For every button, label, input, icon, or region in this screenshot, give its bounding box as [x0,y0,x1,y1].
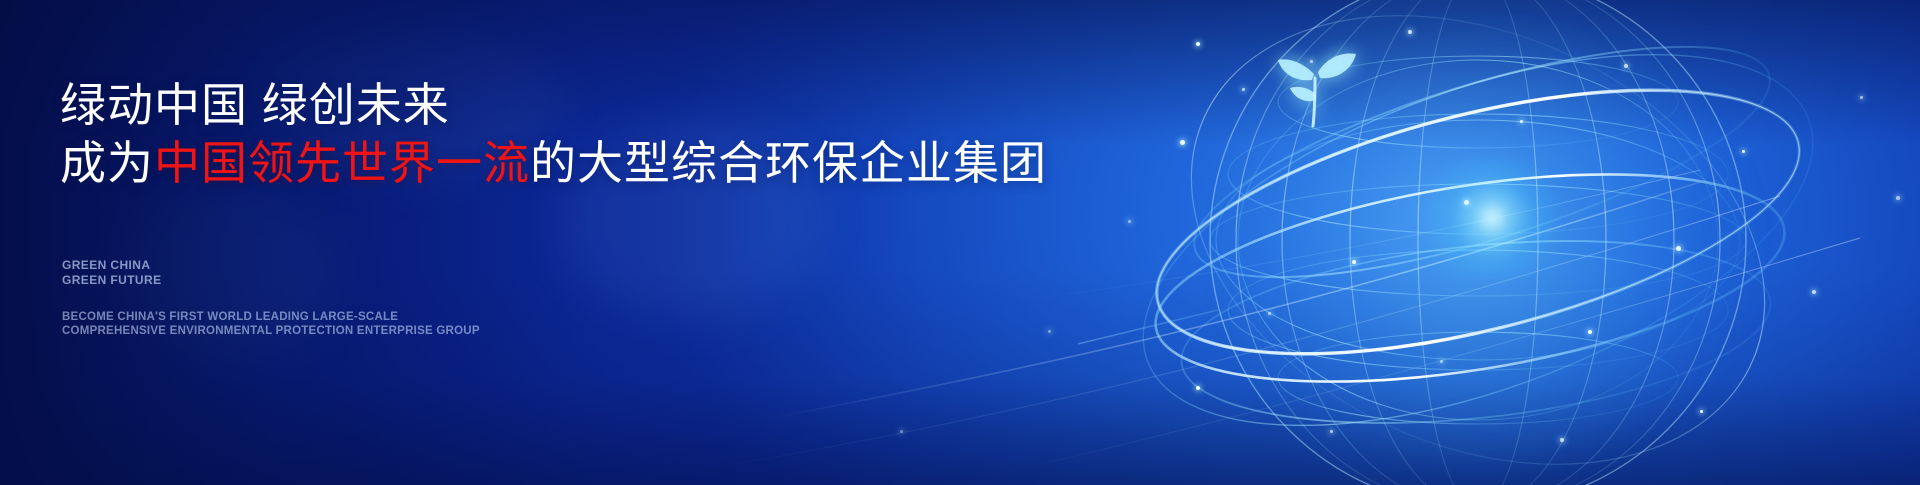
headline-line2-suffix: 的大型综合环保企业集团 [530,137,1047,189]
particle-field [0,0,1920,485]
tagline: GREEN CHINA GREEN FUTURE [62,258,161,288]
subcopy-line-1: BECOME CHINA'S FIRST WORLD LEADING LARGE… [62,310,480,324]
subcopy-line-2: COMPREHENSIVE ENVIRONMENTAL PROTECTION E… [62,324,480,338]
subcopy: BECOME CHINA'S FIRST WORLD LEADING LARGE… [62,310,480,338]
page-title: 绿动中国 绿创未来 成为中国领先世界一流的大型综合环保企业集团 [60,76,1047,192]
tagline-line-2: GREEN FUTURE [62,273,161,288]
headline-line-2: 成为中国领先世界一流的大型综合环保企业集团 [60,134,1047,192]
headline-line-1: 绿动中国 绿创未来 [60,76,1047,134]
headline-line2-highlight: 中国领先世界一流 [154,137,530,189]
hero-banner: 绿动中国 绿创未来 成为中国领先世界一流的大型综合环保企业集团 GREEN CH… [0,0,1920,485]
headline-line2-prefix: 成为 [60,137,154,189]
tagline-line-1: GREEN CHINA [62,258,161,273]
